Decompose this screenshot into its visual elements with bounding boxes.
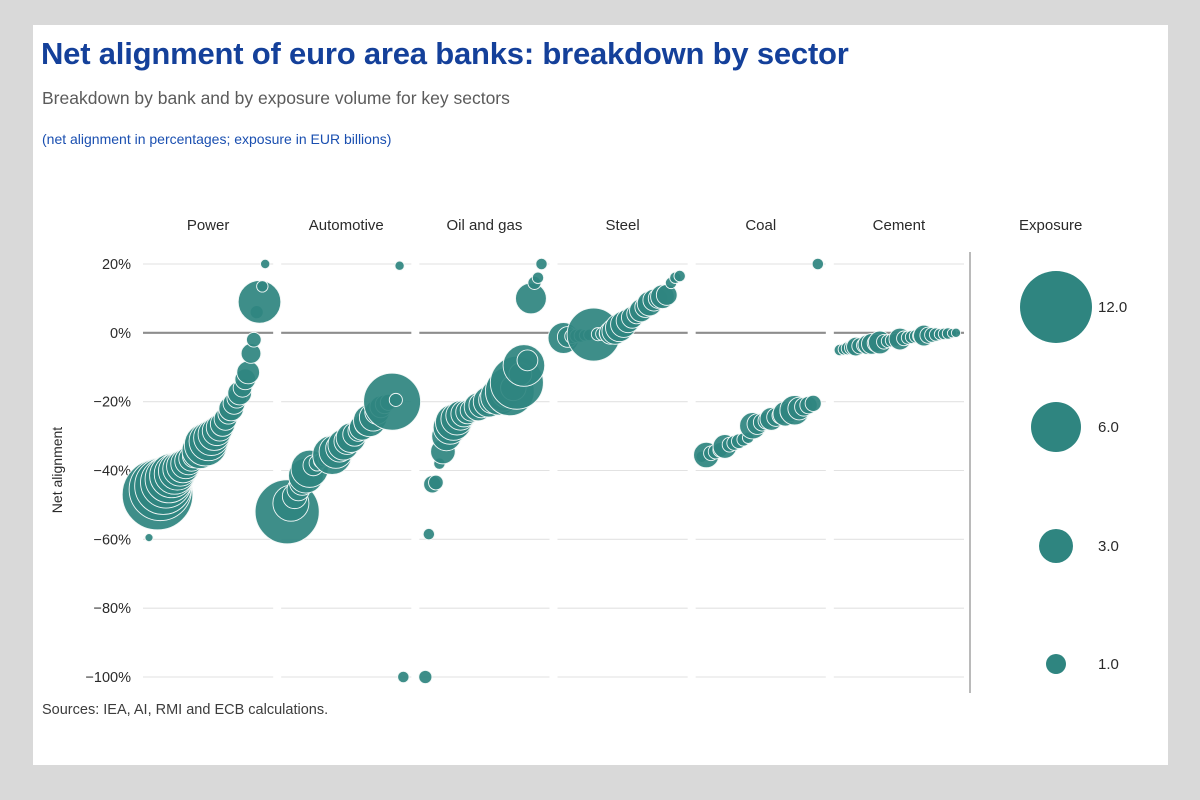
bubble[interactable] bbox=[805, 395, 821, 411]
panel-titles-group: PowerAutomotiveOil and gasSteelCoalCemen… bbox=[187, 217, 926, 234]
y-tick-label: 0% bbox=[110, 326, 131, 342]
bubble[interactable] bbox=[398, 671, 409, 682]
legend-label-3-0: 3.0 bbox=[1098, 538, 1119, 555]
bubble[interactable] bbox=[145, 534, 153, 542]
legend-bubble-12-0 bbox=[1020, 271, 1092, 343]
y-tick-label: 20% bbox=[102, 257, 131, 273]
legend-bubble-1-0 bbox=[1046, 654, 1066, 674]
panel-title-automotive: Automotive bbox=[309, 217, 384, 234]
panel-title-steel: Steel bbox=[605, 217, 639, 234]
legend-bubble-3-0 bbox=[1039, 529, 1073, 563]
bubble[interactable] bbox=[423, 528, 434, 539]
y-tick-label: −100% bbox=[85, 670, 131, 686]
bubble[interactable] bbox=[257, 281, 268, 292]
bubble[interactable] bbox=[674, 270, 685, 281]
y-tick-label: −80% bbox=[94, 601, 132, 617]
legend-title: Exposure bbox=[1019, 217, 1082, 234]
bubble[interactable] bbox=[951, 328, 960, 337]
bubble[interactable] bbox=[419, 670, 432, 683]
y-tick-label: −40% bbox=[94, 464, 132, 480]
bubble[interactable] bbox=[812, 258, 823, 269]
legend-label-6-0: 6.0 bbox=[1098, 419, 1119, 436]
y-tick-labels-group: 20%0%−20%−40%−60%−80%−100% bbox=[85, 257, 131, 686]
bubble[interactable] bbox=[429, 475, 444, 490]
y-tick-label: −20% bbox=[94, 395, 132, 411]
bubble[interactable] bbox=[389, 393, 402, 406]
bubble[interactable] bbox=[246, 332, 261, 347]
screenshot-root: Net alignment of euro area banks: breakd… bbox=[0, 0, 1200, 800]
legend-label-1-0: 1.0 bbox=[1098, 656, 1119, 673]
legend-bubble-6-0 bbox=[1031, 402, 1081, 452]
bubble[interactable] bbox=[517, 350, 538, 371]
bubble[interactable] bbox=[261, 259, 270, 268]
panel-title-power: Power bbox=[187, 217, 230, 234]
bubble[interactable] bbox=[536, 258, 547, 269]
y-tick-label: −60% bbox=[94, 532, 132, 548]
legend-label-12-0: 12.0 bbox=[1098, 299, 1127, 316]
size-legend: Exposure12.06.03.01.0 bbox=[1019, 217, 1127, 674]
y-axis-label: Net alignment bbox=[49, 427, 65, 513]
panel-title-coal: Coal bbox=[745, 217, 776, 234]
panel-title-oil-and-gas: Oil and gas bbox=[446, 217, 522, 234]
bubble-chart: PowerAutomotiveOil and gasSteelCoalCemen… bbox=[0, 0, 1200, 800]
bubble[interactable] bbox=[395, 261, 404, 270]
panel-title-cement: Cement bbox=[873, 217, 926, 234]
bubble[interactable] bbox=[237, 361, 260, 384]
bubble[interactable] bbox=[532, 272, 543, 283]
